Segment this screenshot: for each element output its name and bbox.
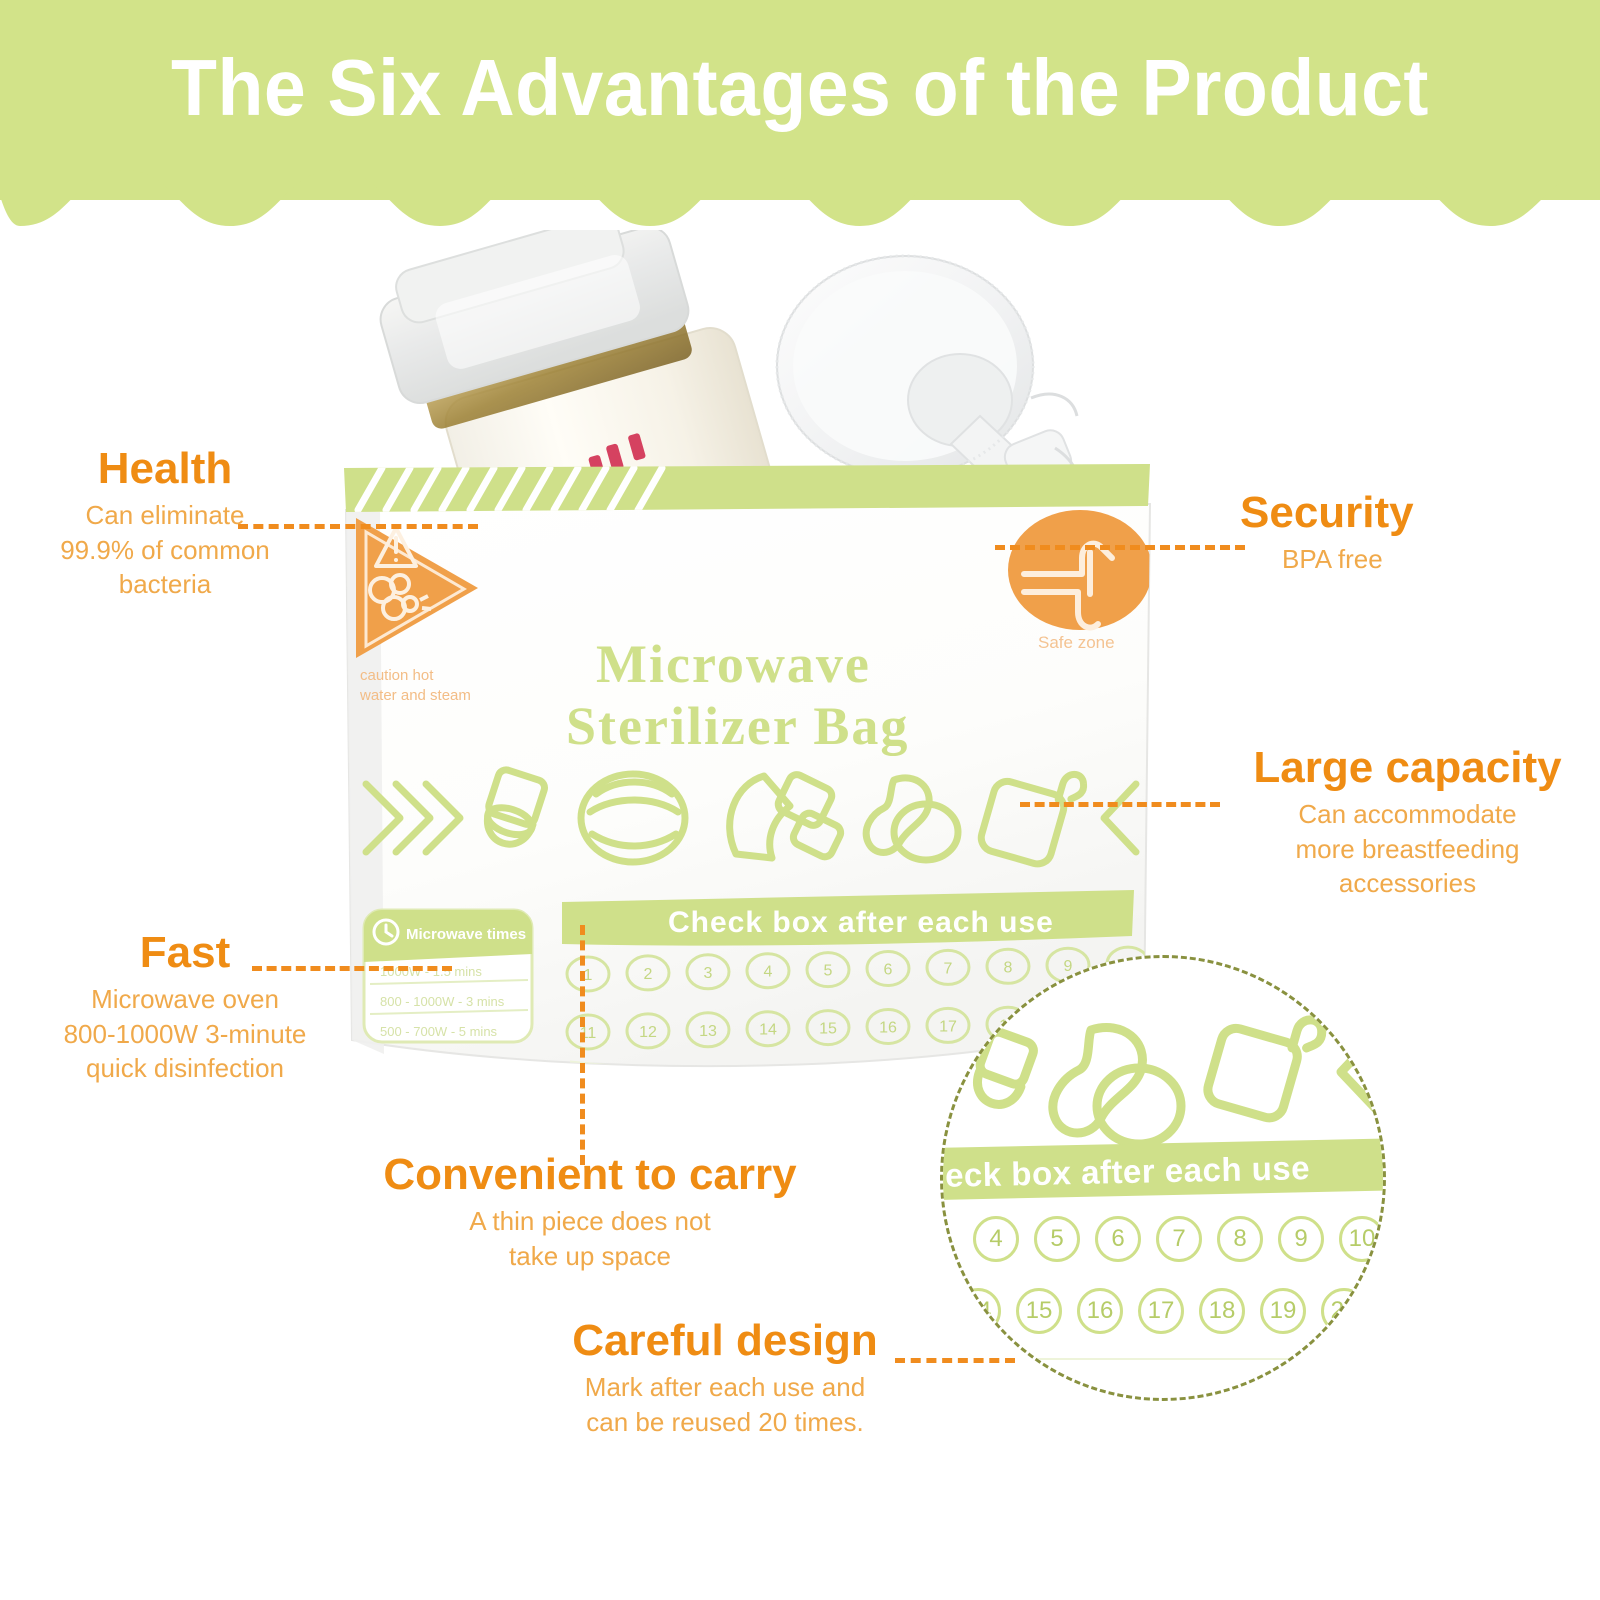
advantage-large-capacity-desc-line-1: Can accommodate [1215,797,1600,831]
advantage-fast-desc-line-2: 800-1000W 3-minute [10,1017,360,1051]
microwave-times-row-1: 800 - 1000W - 3 mins [380,994,505,1009]
advantage-fast-desc-line-3: quick disinfection [10,1051,360,1085]
magnifier-checkbox-circle[interactable]: 18 [1199,1288,1245,1334]
checkbox-number: 12 [639,1024,657,1041]
checkbox-number: 6 [884,962,893,979]
advantage-fast-desc: Microwave oven 800-1000W 3-minute quick … [10,982,360,1085]
bag-product-name-line1: Microwave [596,634,871,694]
baby-bottle-icon [1204,997,1325,1126]
advantage-convenient-desc-line-2: take up space [330,1239,850,1273]
advantage-health-desc-line-3: bacteria [0,567,330,601]
bottle-teat-icon-partial [969,1030,1036,1111]
microwave-times-row-2: 500 - 700W - 5 mins [380,1024,498,1039]
microwave-times-header: Microwave times [406,926,526,943]
connector-security [995,545,1245,550]
advantage-large-capacity-desc: Can accommodate more breastfeeding acces… [1215,797,1600,900]
magnifier-checkbox-circle[interactable]: 15 [1016,1288,1062,1334]
advantage-health: Health Can eliminate 99.9% of common bac… [0,446,330,601]
connector-convenient [580,925,585,1165]
advantage-health-desc: Can eliminate 99.9% of common bacteria [0,498,330,601]
advantage-careful-design-title: Careful design [510,1318,940,1364]
advantage-careful-design-desc: Mark after each use and can be reused 20… [510,1370,940,1439]
chevrons-left-icon [1341,1034,1377,1110]
magnifier-zoom-circle: eck box after each use 45678910 14151617… [940,955,1386,1401]
microwave-times-table: Microwave times 1000W - 1.5 mins 800 - 1… [364,910,532,1042]
magnifier-checkbox-circle[interactable]: 10 [1339,1216,1385,1262]
advantage-fast-title: Fast [10,930,360,976]
checkbox-number: 5 [824,963,833,980]
checkbox-number: 16 [879,1020,897,1037]
magnifier-banner: eck box after each use [940,1138,1386,1200]
magnifier-checkbox-circle[interactable]: 9 [1278,1216,1324,1262]
magnifier-banner-label: eck box after each use [945,1149,1311,1195]
magnifier-checkbox-circle[interactable]: 8 [1217,1216,1263,1262]
advantage-careful-desc-line-2: can be reused 20 times. [510,1405,940,1439]
advantage-large-capacity-desc-line-3: accessories [1215,866,1600,900]
checkbox-number: 14 [759,1022,777,1039]
magnifier-bottom-rule [973,1358,1363,1360]
advantage-large-capacity-title: Large capacity [1215,745,1600,791]
connector-capacity [1020,802,1220,807]
magnifier-checkbox-circle[interactable]: 6 [1095,1216,1141,1262]
advantage-security: Security BPA free [1240,490,1580,577]
magnifier-checkbox-circle[interactable]: 16 [1077,1288,1123,1334]
advantage-security-title: Security [1240,490,1580,536]
advantage-health-desc-line-1: Can eliminate [0,498,330,532]
bag-zipper-band [344,464,1150,512]
checkbox-banner-label: Check box after each use [668,906,1054,939]
safe-zone-label: Safe zone [1038,633,1115,652]
scalloped-edge-decoration [0,148,1600,228]
checkbox-number: 3 [704,965,713,982]
advantage-convenient-to-carry: Convenient to carry A thin piece does no… [330,1152,850,1273]
checkbox-number: 2 [644,966,653,983]
bag-product-name-line2: Sterilizer Bag [566,696,909,756]
magnifier-checkbox-circle[interactable]: 14 [955,1288,1001,1334]
infographic-canvas: The Six Advantages of the Product [0,0,1600,1600]
caution-text-line1: caution hot [360,667,434,684]
page-title: The Six Advantages of the Product [48,42,1552,134]
checkbox-number: 13 [699,1023,717,1040]
advantage-fast-desc-line-1: Microwave oven [10,982,360,1016]
checkbox-number: 15 [819,1021,837,1038]
magnifier-checkbox-circle[interactable]: 20 [1321,1288,1367,1334]
advantage-careful-design: Careful design Mark after each use and c… [510,1318,940,1439]
magnifier-checkbox-circle[interactable]: 5 [1034,1216,1080,1262]
checkbox-number: 4 [764,964,773,981]
caution-text-line2: water and steam [359,687,471,704]
magnifier-checkbox-circle[interactable]: 19 [1260,1288,1306,1334]
pacifier-icon [1053,1028,1181,1144]
magnifier-checkbox-circle[interactable]: 4 [973,1216,1019,1262]
advantage-security-desc-line-1: BPA free [1282,542,1580,576]
advantage-health-title: Health [0,446,330,492]
magnifier-checkbox-circle[interactable]: 7 [1156,1216,1202,1262]
advantage-large-capacity: Large capacity Can accommodate more brea… [1215,745,1600,900]
advantage-fast: Fast Microwave oven 800-1000W 3-minute q… [10,930,360,1085]
magnifier-checkbox-circle[interactable]: 17 [1138,1288,1184,1334]
advantage-health-desc-line-2: 99.9% of common [0,533,330,567]
advantage-convenient-to-carry-title: Convenient to carry [330,1152,850,1198]
advantage-convenient-desc-line-1: A thin piece does not [330,1204,850,1238]
advantage-convenient-to-carry-desc: A thin piece does not take up space [330,1204,850,1273]
advantage-careful-desc-line-1: Mark after each use and [510,1370,940,1404]
advantage-large-capacity-desc-line-2: more breastfeeding [1215,832,1600,866]
magnifier-content: eck box after each use 45678910 14151617… [943,958,1383,1398]
magnifier-numbers-row-2: 14151617181920 [955,1288,1367,1334]
magnifier-numbers-row-1: 45678910 [973,1216,1385,1262]
advantage-security-desc: BPA free [1282,542,1580,576]
